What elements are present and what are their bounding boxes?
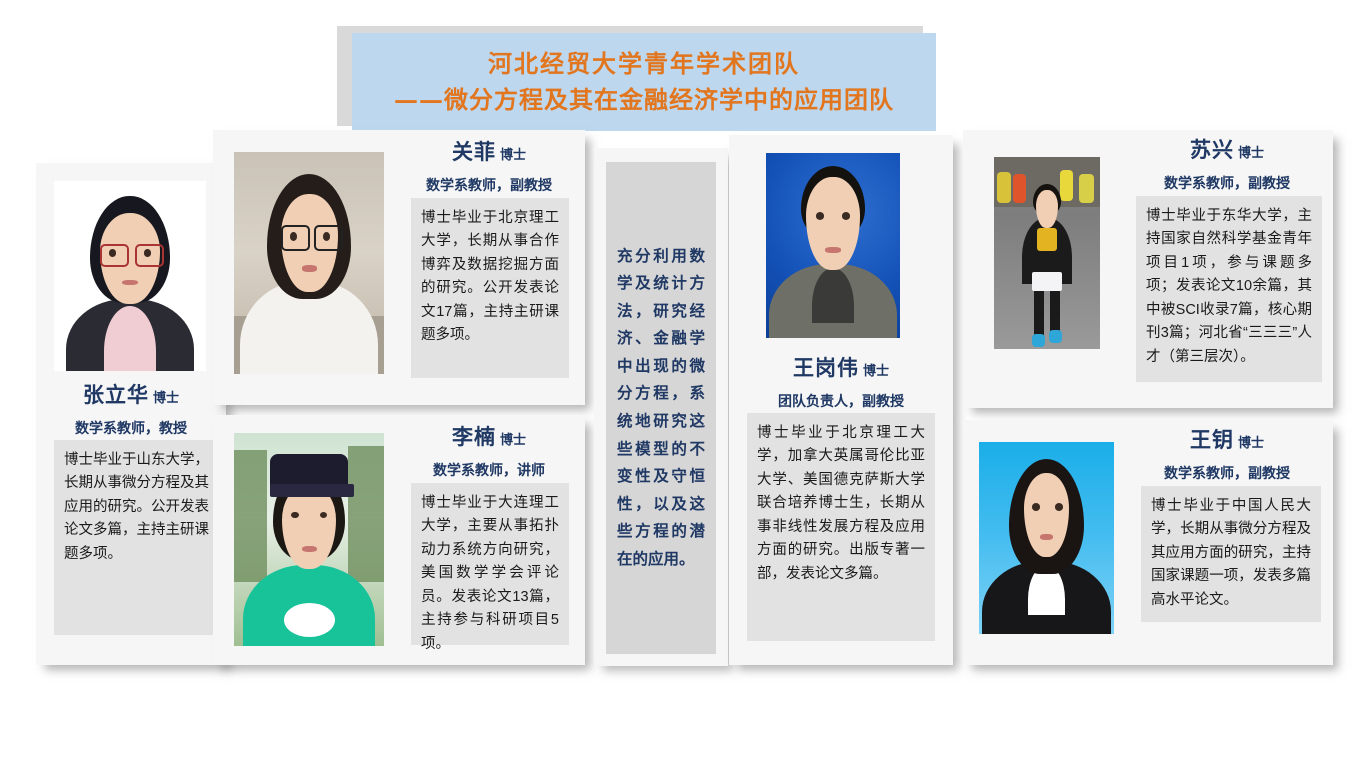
member-photo-zhang xyxy=(54,181,206,371)
member-card-suxing[interactable]: 苏兴博士 数学系教师，副教授 博士毕业于东华大学，主持国家自然科学基金青年项目1… xyxy=(963,130,1333,408)
mission-box: 充分利用数学及统计方法，研究经济、金融学中出现的微分方程，系统地研究这些模型的不… xyxy=(606,162,716,654)
member-name-wangyue: 王钥博士 xyxy=(1127,430,1327,452)
member-bio-suxing: 博士毕业于东华大学，主持国家自然科学基金青年项目1项，参与课题多项；发表论文10… xyxy=(1136,196,1322,382)
member-role-zhang: 数学系教师，教授 xyxy=(36,418,226,438)
member-card-wangyue[interactable]: 王钥博士 数学系教师，副教授 博士毕业于中国人民大学，长期从事微分方程及其应用方… xyxy=(963,420,1333,665)
member-card-wanggw[interactable]: 王岗伟博士 团队负责人，副教授 博士毕业于北京理工大学，加拿大英属哥伦比亚大学、… xyxy=(729,135,953,665)
slide-canvas: 河北经贸大学青年学术团队 ——微分方程及其在金融经济学中的应用团队 张立华博士 … xyxy=(0,0,1358,767)
member-bio-wangyue: 博士毕业于中国人民大学，长期从事微分方程及其应用方面的研究，主持国家课题一项，发… xyxy=(1141,486,1321,622)
member-name-guan: 关菲博士 xyxy=(401,142,577,164)
member-name-wanggw: 王岗伟博士 xyxy=(729,358,953,380)
member-card-zhang[interactable]: 张立华博士 数学系教师，教授 博士毕业于山东大学，长期从事微分方程及其应用的研究… xyxy=(36,163,226,665)
member-role-wangyue: 数学系教师，副教授 xyxy=(1127,463,1327,483)
mission-text: 充分利用数学及统计方法，研究经济、金融学中出现的微分方程，系统地研究这些模型的不… xyxy=(617,243,705,574)
member-photo-suxing xyxy=(994,157,1100,349)
member-role-wanggw: 团队负责人，副教授 xyxy=(729,391,953,411)
member-bio-li: 博士毕业于大连理工大学，主要从事拓扑动力系统方向研究，美国数学学会评论员。发表论… xyxy=(411,483,569,645)
member-photo-li xyxy=(234,433,384,646)
member-name-zhang: 张立华博士 xyxy=(36,385,226,407)
member-card-guan[interactable]: 关菲博士 数学系教师，副教授 博士毕业于北京理工大学，长期从事合作博弈及数据挖掘… xyxy=(213,130,585,405)
member-bio-guan: 博士毕业于北京理工大学，长期从事合作博弈及数据挖掘方面的研究。公开发表论文17篇… xyxy=(411,198,569,378)
banner-title-line1: 河北经贸大学青年学术团队 xyxy=(488,48,800,80)
member-role-guan: 数学系教师，副教授 xyxy=(401,175,577,195)
banner-title-line2: ——微分方程及其在金融经济学中的应用团队 xyxy=(394,84,894,116)
title-banner: 河北经贸大学青年学术团队 ——微分方程及其在金融经济学中的应用团队 xyxy=(352,33,936,131)
member-photo-wangyue xyxy=(979,442,1114,634)
member-role-suxing: 数学系教师，副教授 xyxy=(1127,173,1327,193)
member-role-li: 数学系教师，讲师 xyxy=(401,460,577,480)
member-bio-zhang: 博士毕业于山东大学，长期从事微分方程及其应用的研究。公开发表论文多篇，主持主研课… xyxy=(54,440,219,635)
member-name-li: 李楠博士 xyxy=(401,427,577,449)
member-photo-wanggw xyxy=(766,153,900,338)
member-photo-guan xyxy=(234,152,384,374)
member-name-suxing: 苏兴博士 xyxy=(1127,140,1327,162)
member-bio-wanggw: 博士毕业于北京理工大学，加拿大英属哥伦比亚大学、美国德克萨斯大学联合培养博士生，… xyxy=(747,413,935,641)
member-card-li[interactable]: 李楠博士 数学系教师，讲师 博士毕业于大连理工大学，主要从事拓扑动力系统方向研究… xyxy=(213,415,585,665)
